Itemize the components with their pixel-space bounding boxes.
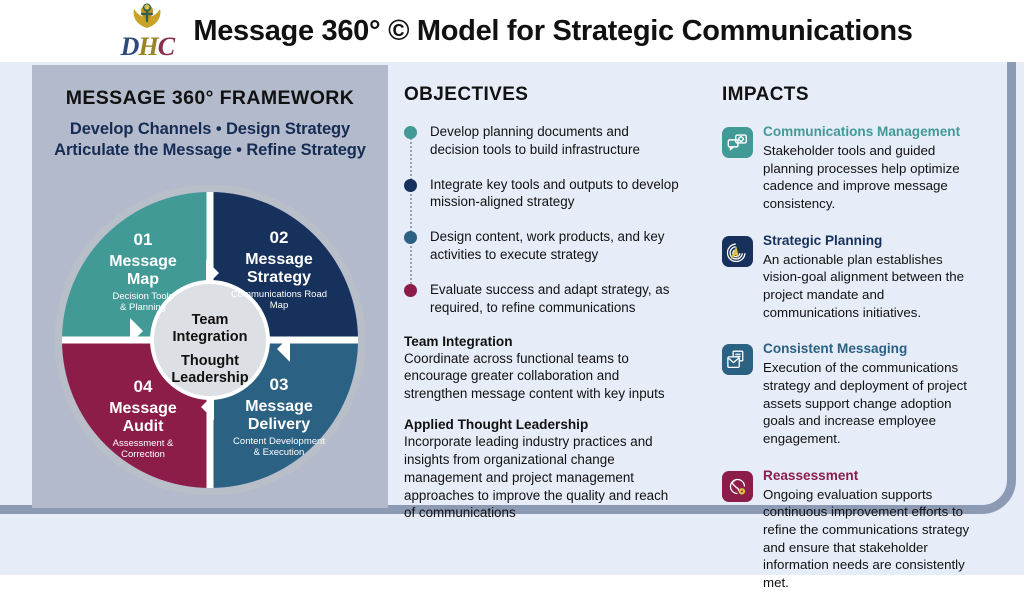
- impacts-heading: IMPACTS: [722, 84, 972, 106]
- objectives-list: Develop planning documents and decision …: [404, 123, 680, 317]
- quadrant-02-title-1: Message: [245, 251, 313, 268]
- impact-item[interactable]: Reassessment Ongoing evaluation supports…: [722, 467, 972, 592]
- framework-subtitle-line2: Articulate the Message • Refine Strategy: [32, 140, 388, 161]
- quadrant-04-number: 04: [134, 377, 153, 396]
- objective-block-body: Coordinate across functional teams to en…: [404, 350, 680, 403]
- chat-bubbles-icon: [722, 127, 753, 158]
- quadrant-01-title-2: Map: [127, 271, 159, 288]
- quadrant-02-sub-1: Communications Road: [231, 289, 327, 300]
- quadrant-01-title-1: Message: [109, 253, 177, 270]
- quadrant-04-title-1: Message: [109, 400, 177, 417]
- infographic-body: MESSAGE 360° FRAMEWORK Develop Channels …: [0, 62, 1024, 575]
- objective-block-team-integration: Team Integration Coordinate across funct…: [404, 334, 680, 403]
- objective-text: Design content, work products, and key a…: [430, 228, 680, 264]
- impacts-column: IMPACTS Communications Management Stakeh…: [722, 84, 972, 611]
- quadrant-03-title-2: Delivery: [248, 416, 310, 433]
- target-arrow-icon: [722, 236, 753, 267]
- quadrant-01-number: 01: [134, 230, 153, 249]
- hub-line-3: Thought: [181, 353, 239, 369]
- quadrant-04-sub-2: Correction: [121, 449, 165, 460]
- impact-text: Execution of the communications strategy…: [763, 359, 972, 447]
- objective-text: Evaluate success and adapt strategy, as …: [430, 281, 680, 317]
- impact-title: Reassessment: [763, 468, 858, 483]
- objective-block-title: Applied Thought Leadership: [404, 417, 680, 432]
- quadrant-02-title-2: Strategy: [247, 269, 311, 286]
- envelope-document-icon: [722, 344, 753, 375]
- quadrant-01-sub-1: Decision Tools: [112, 291, 173, 302]
- quadrant-04-title-2: Audit: [123, 418, 165, 435]
- impact-text: Stakeholder tools and guided planning pr…: [763, 142, 972, 213]
- logo-letter-c: C: [158, 32, 174, 61]
- objective-block-thought-leadership: Applied Thought Leadership Incorporate l…: [404, 417, 680, 522]
- message-360-circle-diagram: 01 Message Map Decision Tools & Planning…: [55, 185, 365, 495]
- objective-bullet-dot: [404, 231, 417, 244]
- quadrant-03-sub-1: Content Development: [233, 436, 325, 447]
- framework-title: MESSAGE 360° FRAMEWORK: [32, 87, 388, 110]
- objective-block-body: Incorporate leading industry practices a…: [404, 433, 680, 522]
- quadrant-03-title-1: Message: [245, 398, 313, 415]
- objective-item[interactable]: Design content, work products, and key a…: [404, 228, 680, 264]
- hub-line-2: Integration: [173, 329, 248, 345]
- quadrant-02-number: 02: [270, 228, 289, 247]
- objective-text: Integrate key tools and outputs to devel…: [430, 176, 680, 212]
- quadrant-02-sub-2: Map: [270, 300, 288, 311]
- quadrant-03-sub-2: & Execution: [254, 447, 305, 458]
- objective-bullet-dot: [404, 284, 417, 297]
- hub-line-1: Team: [192, 312, 229, 328]
- quadrant-04-sub-1: Assessment &: [113, 438, 174, 449]
- objectives-heading: OBJECTIVES: [404, 84, 680, 106]
- impact-item[interactable]: Consistent Messaging Execution of the co…: [722, 340, 972, 447]
- objective-bullet-dot: [404, 179, 417, 192]
- impact-title: Strategic Planning: [763, 233, 882, 248]
- person-lotus-icon: [130, 1, 164, 36]
- hub-line-4: Leadership: [171, 370, 248, 386]
- objectives-column: OBJECTIVES Develop planning documents an…: [404, 84, 680, 522]
- impacts-list: Communications Management Stakeholder to…: [722, 123, 972, 592]
- objective-item[interactable]: Develop planning documents and decision …: [404, 123, 680, 159]
- impact-item[interactable]: Communications Management Stakeholder to…: [722, 123, 972, 213]
- impact-text: An actionable plan establishes vision-go…: [763, 251, 972, 322]
- objective-item[interactable]: Integrate key tools and outputs to devel…: [404, 176, 680, 212]
- impact-item[interactable]: Strategic Planning An actionable plan es…: [722, 232, 972, 322]
- impact-title: Consistent Messaging: [763, 341, 907, 356]
- impact-text: Ongoing evaluation supports continuous i…: [763, 486, 972, 592]
- impact-title: Communications Management: [763, 124, 960, 139]
- dhc-logo: DHC: [111, 3, 183, 59]
- objective-text: Develop planning documents and decision …: [430, 123, 680, 159]
- quadrant-03-number: 03: [270, 375, 289, 394]
- quadrant-01-sub-2: & Planning: [120, 302, 166, 313]
- title-bar: DHC Message 360° © Model for Strategic C…: [0, 0, 1024, 62]
- wrench-gear-icon: [722, 471, 753, 502]
- logo-letter-h: H: [138, 32, 157, 61]
- objective-item[interactable]: Evaluate success and adapt strategy, as …: [404, 281, 680, 317]
- logo-letter-d: D: [121, 32, 139, 61]
- page-title: Message 360° © Model for Strategic Commu…: [193, 15, 912, 48]
- objective-bullet-dot: [404, 126, 417, 139]
- objective-block-title: Team Integration: [404, 334, 680, 349]
- framework-subtitle-line1: Develop Channels • Design Strategy: [32, 119, 388, 140]
